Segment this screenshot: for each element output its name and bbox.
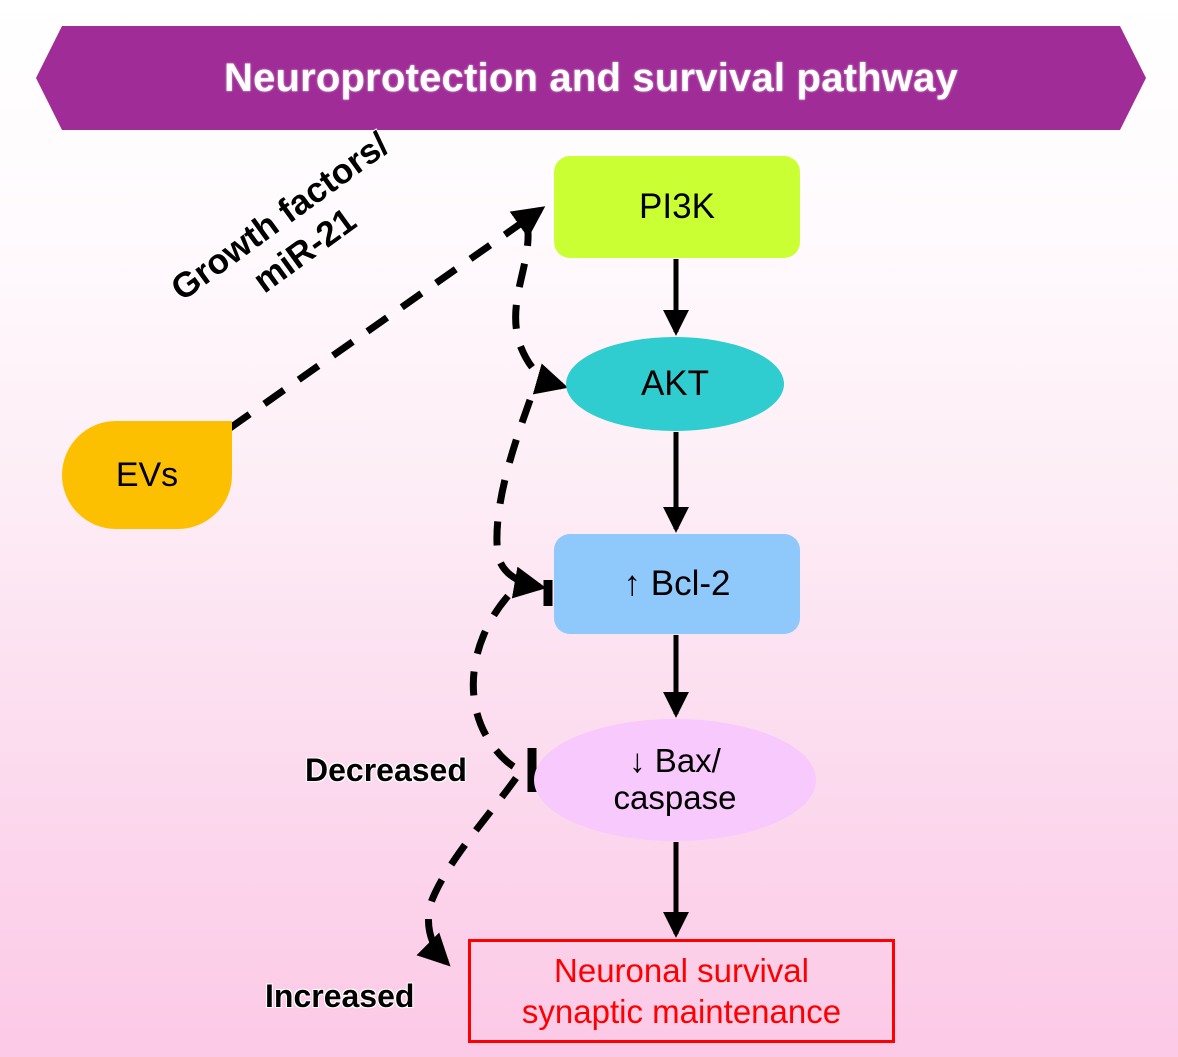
node-akt[interactable]: AKT	[566, 337, 784, 431]
edge-to-outcome-increased	[428, 778, 516, 962]
title-banner: Neuroprotection and survival pathway	[36, 26, 1146, 130]
node-pi3k[interactable]: PI3K	[554, 156, 800, 258]
node-pi3k-label: PI3K	[639, 187, 715, 226]
node-outcome[interactable]: Neuronal survival synaptic maintenance	[468, 939, 895, 1043]
node-outcome-line2: synaptic maintenance	[522, 991, 841, 1032]
node-akt-label: AKT	[641, 364, 709, 403]
node-outcome-line1: Neuronal survival	[522, 950, 841, 991]
edge-label-growth-factors: Growth factors/ miR-21	[163, 124, 422, 344]
edge-evs-to-bcl2	[497, 400, 540, 587]
page-title: Neuroprotection and survival pathway	[36, 26, 1146, 130]
edge-label-increased: Increased	[265, 978, 414, 1015]
node-bax[interactable]: ↓ Bax/ caspase	[534, 719, 816, 841]
edge-label-decreased: Decreased	[305, 752, 467, 789]
node-evs-label: EVs	[116, 456, 178, 494]
edge-bcl2-inhibits-bax	[473, 596, 524, 772]
node-bcl2[interactable]: ↑ Bcl-2	[554, 534, 800, 634]
node-bax-label: ↓ Bax/ caspase	[614, 743, 737, 817]
node-evs[interactable]: EVs	[62, 421, 232, 529]
node-bcl2-label: ↑ Bcl-2	[624, 564, 731, 603]
